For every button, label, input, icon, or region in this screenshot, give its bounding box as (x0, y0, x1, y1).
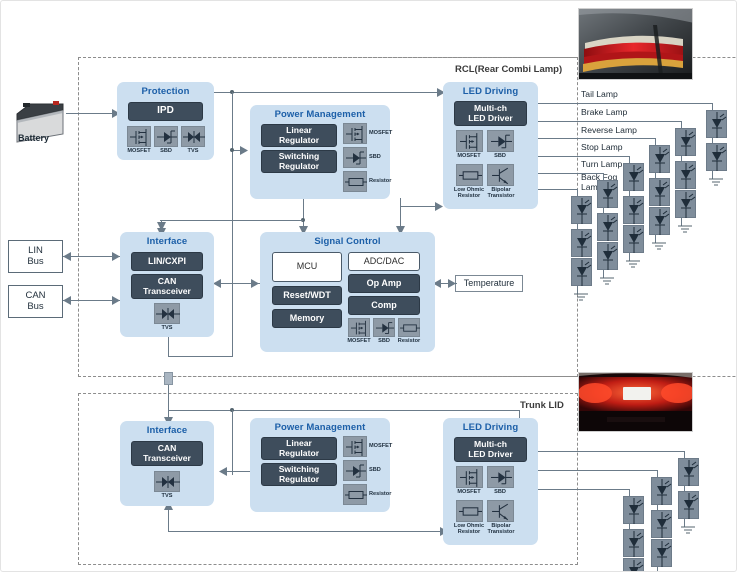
symbol-mosfet (343, 123, 367, 144)
symbol-tvs (154, 303, 180, 324)
interface-title: Interface (120, 236, 214, 247)
symbol-tvs (181, 126, 205, 147)
ground-symbol (623, 260, 644, 269)
wire-trunk-pm-v (232, 441, 233, 471)
part-adc-dac[interactable]: ADC/DAC (348, 252, 420, 271)
part-memory-label: Memory (290, 314, 325, 324)
led-tile (649, 145, 670, 173)
wire-sc-return-h (168, 356, 233, 357)
block-protection[interactable]: Protection IPD MOSFET SBD (117, 82, 214, 160)
linear-regulator-line2: Regulator (279, 136, 319, 145)
led-tile (649, 178, 670, 206)
part-mcu-label: MCU (297, 262, 318, 272)
part-op-amp[interactable]: Op Amp (348, 274, 420, 293)
part-ipd-label: IPD (157, 106, 174, 117)
block-power-management-trunk[interactable]: Power Management Linear Regulator Switch… (250, 418, 390, 512)
wire-pm-node (230, 148, 234, 152)
protection-title: Protection (117, 86, 214, 97)
can-transceiver-line2: Transceiver (143, 287, 191, 296)
arrow-protection-pm (240, 146, 249, 155)
part-op-amp-label: Op Amp (367, 279, 402, 289)
symbol-mosfet-caption: MOSFET (369, 443, 392, 449)
ground-symbol (678, 526, 699, 535)
wire-protection-top (214, 92, 444, 93)
trunk-interface-title: Interface (120, 425, 214, 436)
led-tile (597, 180, 618, 208)
symbol-resistor (343, 484, 367, 505)
part-lin-cxpi-label: LIN/CXPI (148, 257, 186, 267)
symbol-sbd (373, 318, 395, 337)
symbol-sbd-caption: SBD (369, 467, 381, 473)
led-tile (623, 496, 644, 524)
symbol-sbd-caption: SBD (485, 153, 515, 159)
symbol-sbd-caption: SBD (485, 489, 515, 495)
wire-pm-sc-left (161, 220, 303, 221)
symbol-resistor-caption: Resistor (392, 338, 426, 344)
can-bus-box[interactable]: CAN Bus (8, 285, 63, 318)
arrow-temp-right (448, 279, 457, 288)
led-tile (675, 190, 696, 218)
led-tile (597, 242, 618, 270)
ground-symbol (571, 293, 592, 302)
symbol-tvs-caption: TVS (177, 148, 209, 154)
block-power-management-rcl[interactable]: Power Management Linear Regulator Switch… (250, 105, 390, 199)
symbol-bipolar-transistor-caption: Bipolar Transistor (483, 523, 519, 536)
pm-title: Power Management (250, 109, 390, 120)
wire-connector-down (168, 385, 169, 421)
part-reset-wdt[interactable]: Reset/WDT (272, 286, 342, 305)
part-linear-regulator[interactable]: Linear Regulator (261, 124, 337, 147)
led-tile (571, 258, 592, 286)
string-ground-wire (657, 567, 658, 572)
arrow-interface-to-signal (251, 279, 260, 288)
symbol-tvs (154, 471, 180, 492)
symbol-tvs-caption: TVS (152, 325, 182, 331)
lamp-label-turn: Turn Lamp (581, 160, 622, 170)
string-wire (655, 138, 656, 145)
lamp-label-stop: Stop Lamp (581, 143, 623, 153)
temperature-sensor-box[interactable]: Temperature (455, 275, 523, 292)
symbol-mosfet-caption: MOSFET (451, 153, 487, 159)
string-wire (681, 121, 682, 128)
part-switching-regulator[interactable]: Switching Regulator (261, 463, 337, 486)
symbol-sbd (487, 130, 514, 152)
symbol-mosfet (343, 436, 367, 457)
symbol-sbd (343, 460, 367, 481)
part-reset-wdt-label: Reset/WDT (283, 291, 331, 301)
symbol-mosfet-caption: MOSFET (369, 130, 392, 136)
trunk-led-driver-line2: LED Driver (468, 450, 512, 459)
led-driver-line2: LED Driver (468, 114, 512, 123)
wire-trunk-out-3 (538, 489, 630, 490)
wire-trunk-out-2 (538, 470, 658, 471)
string-wire (629, 489, 630, 496)
wire-sc-return-v (232, 284, 233, 356)
string-wire (629, 156, 630, 163)
can-bus-line1: CAN (25, 291, 45, 302)
wire-battery-to-protection (66, 113, 117, 114)
symbol-mosfet (127, 126, 151, 147)
led-tile (678, 491, 699, 519)
led-tile (651, 510, 672, 538)
led-tile (623, 529, 644, 557)
trunk-led-driving-title: LED Driving (443, 422, 538, 433)
symbol-low-ohmic-resistor (456, 164, 483, 186)
lin-bus-line1: LIN (28, 246, 43, 257)
lamp-label-tail: Tail Lamp (581, 90, 618, 100)
symbol-sbd (343, 147, 367, 168)
block-diagram-canvas: RCL(Rear Combi Lamp) Trunk LID (0, 0, 737, 572)
lin-bus-box[interactable]: LIN Bus (8, 240, 63, 273)
rear-combi-lamp-photo (578, 8, 693, 80)
lamp-label-brake: Brake Lamp (581, 108, 627, 118)
string-wire (577, 189, 578, 196)
part-memory[interactable]: Memory (272, 309, 342, 328)
block-interface-trunk[interactable]: Interface CAN Transceiver TVS (120, 421, 214, 506)
string-wire (657, 470, 658, 477)
rcl-section-label: RCL(Rear Combi Lamp) (455, 64, 562, 75)
wire-out-reverse (538, 138, 656, 139)
string-wire (684, 451, 685, 458)
trunk-section-label: Trunk LID (520, 400, 564, 411)
symbol-bipolar-transistor (487, 164, 514, 186)
trunk-linear-line2: Regulator (279, 449, 319, 458)
led-tile (571, 229, 592, 257)
led-tile (651, 539, 672, 567)
wire-protection-down (232, 92, 233, 284)
symbol-mosfet-caption: MOSFET (451, 489, 487, 495)
part-multi-ch-led-driver[interactable]: Multi-ch LED Driver (454, 101, 527, 126)
block-led-driving-rcl[interactable]: LED Driving Multi-ch LED Driver MOSFET S… (443, 82, 538, 209)
trunk-switching-line2: Regulator (279, 475, 319, 484)
led-tile (571, 196, 592, 224)
block-led-driving-trunk[interactable]: LED Driving Multi-ch LED Driver MOSFET S… (443, 418, 538, 545)
ground-symbol (649, 242, 670, 251)
symbol-mosfet (348, 318, 370, 337)
battery-label: Battery (18, 133, 49, 143)
block-signal-control[interactable]: Signal Control MCU Reset/WDT Memory ADC/… (260, 232, 435, 352)
wire-trunk-out-1 (538, 451, 685, 452)
led-tile (675, 128, 696, 156)
symbol-resistor-caption: Resistor (369, 178, 391, 184)
ground-symbol (675, 225, 696, 234)
block-interface-rcl[interactable]: Interface LIN/CXPI CAN Transceiver TVS (120, 232, 214, 337)
string-wire (603, 173, 604, 180)
lamp-label-reverse: Reverse Lamp (581, 126, 637, 136)
symbol-sbd-caption: SBD (369, 154, 381, 160)
symbol-sbd (487, 466, 514, 488)
symbol-bipolar-transistor-caption: Bipolar Transistor (483, 187, 519, 200)
part-multi-ch-led-driver[interactable]: Multi-ch LED Driver (454, 437, 527, 462)
led-tile (623, 558, 644, 572)
symbol-tvs-caption: TVS (152, 493, 182, 499)
wire-out-stop (538, 156, 630, 157)
arrow-can-left (62, 296, 71, 305)
led-tile (623, 196, 644, 224)
part-mcu[interactable]: MCU (272, 252, 342, 282)
lin-bus-line2: Bus (27, 257, 43, 268)
symbol-low-ohmic-resistor (456, 500, 483, 522)
part-lin-cxpi[interactable]: LIN/CXPI (131, 252, 203, 271)
led-tile (651, 477, 672, 505)
temperature-label: Temperature (464, 278, 515, 288)
symbol-sbd (154, 126, 178, 147)
can-bus-line2: Bus (27, 302, 43, 313)
switching-regulator-line2: Regulator (279, 162, 319, 171)
section-connector-icon (164, 372, 173, 385)
wire-trunk-led-return (168, 531, 448, 532)
string-wire (712, 103, 713, 110)
symbol-bipolar-transistor (487, 500, 514, 522)
trunk-lid-photo (578, 372, 693, 432)
led-tile (623, 163, 644, 191)
part-linear-regulator[interactable]: Linear Regulator (261, 437, 337, 460)
led-tile (597, 213, 618, 241)
symbol-resistor (343, 171, 367, 192)
wire-out-brake (538, 121, 682, 122)
arrow-trunk-pm-interface (218, 467, 227, 476)
signal-control-title: Signal Control (260, 236, 435, 247)
wire-out-tail (538, 103, 713, 104)
led-tile (649, 207, 670, 235)
part-switching-regulator[interactable]: Switching Regulator (261, 150, 337, 173)
part-adc-dac-label: ADC/DAC (364, 257, 405, 267)
part-can-transceiver[interactable]: CAN Transceiver (131, 441, 203, 466)
led-tile (706, 110, 727, 138)
wire-out-backfog (538, 189, 578, 190)
symbol-resistor-caption: Resistor (369, 491, 391, 497)
part-comp[interactable]: Comp (348, 296, 420, 315)
ground-symbol (706, 178, 727, 187)
symbol-resistor (398, 318, 420, 337)
part-can-transceiver[interactable]: CAN Transceiver (131, 274, 203, 299)
symbol-mosfet (456, 466, 483, 488)
ground-symbol (597, 277, 618, 286)
led-tile (678, 458, 699, 486)
wire-out-turn (538, 173, 604, 174)
trunk-can-line2: Transceiver (143, 454, 191, 463)
led-tile (623, 225, 644, 253)
led-tile (675, 161, 696, 189)
led-tile (706, 143, 727, 171)
trunk-pm-title: Power Management (250, 422, 390, 433)
part-comp-label: Comp (371, 301, 397, 311)
wire-trunk-top (168, 410, 520, 411)
part-ipd[interactable]: IPD (128, 102, 203, 121)
symbol-mosfet (456, 130, 483, 152)
led-driving-title: LED Driving (443, 86, 538, 97)
arrow-lin-left (62, 252, 71, 261)
